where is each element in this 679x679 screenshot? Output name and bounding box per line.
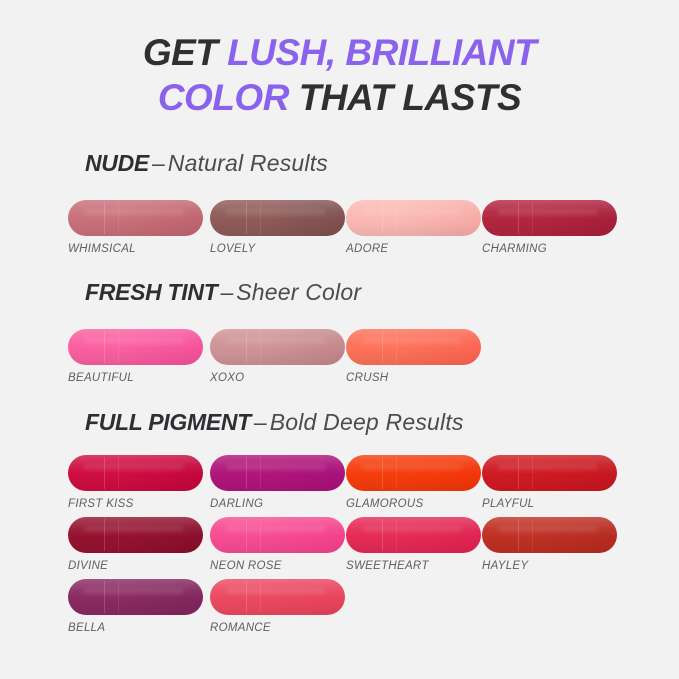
- swatch-seam-right: [118, 331, 119, 363]
- swatch-sheen: [346, 329, 481, 365]
- swatch-sheen: [68, 329, 203, 365]
- swatch-label-sweetheart: SWEETHEART: [346, 560, 481, 572]
- swatch-seam-left: [246, 331, 247, 363]
- swatch-sheen: [210, 329, 345, 365]
- swatch-sheen: [210, 455, 345, 491]
- page-title-line-1: GET LUSH, BRILLIANT: [0, 30, 679, 75]
- color-swatch-bella[interactable]: [68, 579, 203, 615]
- swatch-seam-left: [382, 519, 383, 551]
- swatch-label-first-kiss: FIRST KISS: [68, 498, 203, 510]
- section-dash-full-pigment: –: [251, 409, 270, 435]
- swatch-seam-right: [118, 202, 119, 234]
- swatch-cell-darling[interactable]: DARLING: [210, 455, 345, 510]
- swatch-label-neon-rose: NEON ROSE: [210, 560, 345, 572]
- swatch-seam-left: [104, 457, 105, 489]
- title-word-that-lasts: THAT LASTS: [289, 77, 521, 118]
- color-swatch-hayley[interactable]: [482, 517, 617, 553]
- swatch-seam-right: [118, 519, 119, 551]
- swatch-gloss: [84, 464, 184, 470]
- swatch-cell-charming[interactable]: CHARMING: [482, 200, 617, 255]
- color-swatch-adore[interactable]: [346, 200, 481, 236]
- section-header-fresh-tint: FRESH TINT–Sheer Color: [85, 281, 361, 304]
- page-title-line-2: COLOR THAT LASTS: [0, 75, 679, 120]
- swatch-cell-beautiful[interactable]: BEAUTIFUL: [68, 329, 203, 384]
- swatch-seam-right: [260, 519, 261, 551]
- swatch-sheen: [346, 455, 481, 491]
- swatch-cell-playful[interactable]: PLAYFUL: [482, 455, 617, 510]
- swatch-gloss: [84, 588, 184, 594]
- swatch-grid-fresh-tint: BEAUTIFUL XOXO: [68, 329, 668, 391]
- swatch-cell-xoxo[interactable]: XOXO: [210, 329, 345, 384]
- swatch-gloss: [226, 464, 326, 470]
- swatch-cell-crush[interactable]: CRUSH: [346, 329, 481, 384]
- swatch-cell-first-kiss[interactable]: FIRST KISS: [68, 455, 203, 510]
- swatch-sheen: [210, 200, 345, 236]
- color-swatch-neon-rose[interactable]: [210, 517, 345, 553]
- swatch-label-beautiful: BEAUTIFUL: [68, 372, 203, 384]
- swatch-gloss: [498, 209, 598, 215]
- swatch-label-romance: ROMANCE: [210, 622, 345, 634]
- section-subtitle-fresh-tint: Sheer Color: [236, 279, 361, 305]
- color-swatch-crush[interactable]: [346, 329, 481, 365]
- section-category-nude: NUDE: [85, 150, 149, 176]
- swatch-seam-left: [104, 331, 105, 363]
- swatch-gloss: [226, 338, 326, 344]
- swatch-cell-glamorous[interactable]: GLAMOROUS: [346, 455, 481, 510]
- swatch-seam-left: [246, 519, 247, 551]
- swatch-sheen: [346, 517, 481, 553]
- swatch-cell-adore[interactable]: ADORE: [346, 200, 481, 255]
- swatch-gloss: [362, 464, 462, 470]
- swatch-gloss: [84, 526, 184, 532]
- title-word-lush-brilliant: LUSH, BRILLIANT: [227, 32, 536, 73]
- swatch-cell-neon-rose[interactable]: NEON ROSE: [210, 517, 345, 572]
- swatch-gloss: [84, 209, 184, 215]
- swatch-cell-romance[interactable]: ROMANCE: [210, 579, 345, 634]
- color-swatch-romance[interactable]: [210, 579, 345, 615]
- color-swatch-first-kiss[interactable]: [68, 455, 203, 491]
- swatch-seam-right: [260, 581, 261, 613]
- swatch-cell-lovely[interactable]: LOVELY: [210, 200, 345, 255]
- swatch-row: BELLA ROMANCE: [68, 579, 668, 641]
- swatch-seam-left: [382, 331, 383, 363]
- title-word-color: COLOR: [158, 77, 289, 118]
- swatch-label-divine: DIVINE: [68, 560, 203, 572]
- swatch-seam-left: [104, 581, 105, 613]
- swatch-label-playful: PLAYFUL: [482, 498, 617, 510]
- swatch-sheen: [68, 200, 203, 236]
- section-dash-nude: –: [149, 150, 168, 176]
- color-swatch-playful[interactable]: [482, 455, 617, 491]
- swatch-sheen: [210, 579, 345, 615]
- swatch-row: WHIMSICAL LOVELY: [68, 200, 668, 262]
- title-word-get: GET: [143, 32, 227, 73]
- swatch-seam-right: [260, 457, 261, 489]
- section-dash-fresh-tint: –: [217, 279, 236, 305]
- swatch-sheen: [68, 455, 203, 491]
- color-swatch-lovely[interactable]: [210, 200, 345, 236]
- swatch-sheen: [482, 517, 617, 553]
- swatch-label-hayley: HAYLEY: [482, 560, 617, 572]
- page-title: GET LUSH, BRILLIANT COLOR THAT LASTS: [0, 30, 679, 120]
- swatch-sheen: [482, 200, 617, 236]
- swatch-cell-divine[interactable]: DIVINE: [68, 517, 203, 572]
- swatch-chart-page: GET LUSH, BRILLIANT COLOR THAT LASTS NUD…: [0, 0, 679, 679]
- swatch-label-adore: ADORE: [346, 243, 481, 255]
- swatch-gloss: [362, 526, 462, 532]
- swatch-sheen: [210, 517, 345, 553]
- swatch-seam-right: [396, 202, 397, 234]
- section-subtitle-full-pigment: Bold Deep Results: [270, 409, 464, 435]
- swatch-label-glamorous: GLAMOROUS: [346, 498, 481, 510]
- swatch-seam-right: [260, 202, 261, 234]
- color-swatch-sweetheart[interactable]: [346, 517, 481, 553]
- swatch-cell-hayley[interactable]: HAYLEY: [482, 517, 617, 572]
- swatch-seam-left: [518, 457, 519, 489]
- section-category-full-pigment: FULL PIGMENT: [85, 409, 251, 435]
- swatch-seam-right: [118, 581, 119, 613]
- color-swatch-xoxo[interactable]: [210, 329, 345, 365]
- swatch-label-whimsical: WHIMSICAL: [68, 243, 203, 255]
- section-subtitle-nude: Natural Results: [168, 150, 328, 176]
- swatch-cell-bella[interactable]: BELLA: [68, 579, 203, 634]
- swatch-seam-left: [246, 581, 247, 613]
- swatch-seam-right: [260, 331, 261, 363]
- swatch-seam-left: [104, 519, 105, 551]
- swatch-seam-right: [118, 457, 119, 489]
- color-swatch-whimsical[interactable]: [68, 200, 203, 236]
- swatch-gloss: [226, 209, 326, 215]
- section-header-nude: NUDE–Natural Results: [85, 152, 328, 175]
- swatch-seam-right: [532, 519, 533, 551]
- swatch-label-charming: CHARMING: [482, 243, 617, 255]
- section-header-full-pigment: FULL PIGMENT–Bold Deep Results: [85, 411, 464, 434]
- swatch-label-bella: BELLA: [68, 622, 203, 634]
- swatch-sheen: [346, 200, 481, 236]
- swatch-seam-right: [396, 457, 397, 489]
- swatch-sheen: [482, 455, 617, 491]
- swatch-label-crush: CRUSH: [346, 372, 481, 384]
- swatch-seam-left: [246, 457, 247, 489]
- swatch-seam-left: [382, 457, 383, 489]
- swatch-cell-sweetheart[interactable]: SWEETHEART: [346, 517, 481, 572]
- color-swatch-darling[interactable]: [210, 455, 345, 491]
- swatch-gloss: [226, 588, 326, 594]
- swatch-gloss: [498, 526, 598, 532]
- swatch-seam-left: [246, 202, 247, 234]
- swatch-cell-whimsical[interactable]: WHIMSICAL: [68, 200, 203, 255]
- color-swatch-divine[interactable]: [68, 517, 203, 553]
- swatch-row: DIVINE NEON ROSE: [68, 517, 668, 579]
- swatch-gloss: [362, 209, 462, 215]
- swatch-seam-left: [104, 202, 105, 234]
- swatch-seam-right: [396, 519, 397, 551]
- color-swatch-beautiful[interactable]: [68, 329, 203, 365]
- swatch-label-darling: DARLING: [210, 498, 345, 510]
- swatch-seam-left: [382, 202, 383, 234]
- swatch-gloss: [498, 464, 598, 470]
- swatch-grid-nude: WHIMSICAL LOVELY: [68, 200, 668, 262]
- section-category-fresh-tint: FRESH TINT: [85, 279, 217, 305]
- swatch-seam-left: [518, 519, 519, 551]
- swatch-label-lovely: LOVELY: [210, 243, 345, 255]
- swatch-sheen: [68, 517, 203, 553]
- swatch-grid-full-pigment: FIRST KISS DARLING: [68, 455, 668, 641]
- swatch-seam-right: [532, 457, 533, 489]
- swatch-row: FIRST KISS DARLING: [68, 455, 668, 517]
- swatch-row: BEAUTIFUL XOXO: [68, 329, 668, 391]
- swatch-label-xoxo: XOXO: [210, 372, 345, 384]
- swatch-gloss: [84, 338, 184, 344]
- swatch-sheen: [68, 579, 203, 615]
- color-swatch-glamorous[interactable]: [346, 455, 481, 491]
- color-swatch-charming[interactable]: [482, 200, 617, 236]
- swatch-seam-left: [518, 202, 519, 234]
- swatch-seam-right: [396, 331, 397, 363]
- swatch-gloss: [226, 526, 326, 532]
- swatch-gloss: [362, 338, 462, 344]
- swatch-seam-right: [532, 202, 533, 234]
